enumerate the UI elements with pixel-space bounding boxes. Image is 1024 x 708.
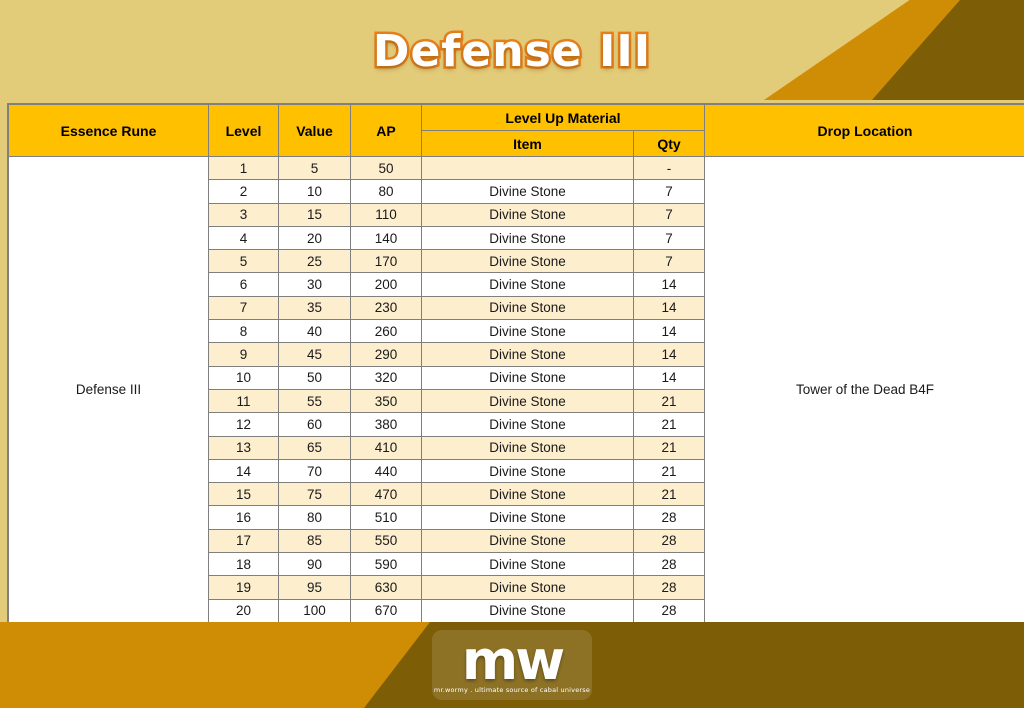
cell-item [422,157,634,180]
cell-level: 7 [209,296,279,319]
cell-ap: 200 [351,273,422,296]
cell-ap: 410 [351,436,422,459]
cell-value: 10 [279,180,351,203]
cell-ap: 110 [351,203,422,226]
cell-ap: 470 [351,483,422,506]
cell-qty: 7 [634,180,705,203]
cell-qty: - [634,157,705,180]
cell-level: 16 [209,506,279,529]
cell-qty: 14 [634,343,705,366]
mw-logo-tagline: mr.wormy . ultimate source of cabal univ… [434,686,590,694]
cell-qty: 21 [634,436,705,459]
footer-banner: mw mr.wormy . ultimate source of cabal u… [0,622,1024,708]
col-header-item: Item [422,131,634,157]
col-header-drop-location: Drop Location [705,105,1024,157]
cell-ap: 140 [351,226,422,249]
cell-level: 5 [209,250,279,273]
cell-item: Divine Stone [422,436,634,459]
cell-ap: 550 [351,529,422,552]
cell-item: Divine Stone [422,320,634,343]
cell-qty: 28 [634,576,705,599]
cell-level: 1 [209,157,279,180]
cell-qty: 14 [634,366,705,389]
top-banner: Defense III [0,0,1024,100]
cell-qty: 7 [634,226,705,249]
cell-ap: 350 [351,389,422,412]
col-header-essence-rune: Essence Rune [9,105,209,157]
cell-level: 6 [209,273,279,296]
cell-item: Divine Stone [422,343,634,366]
col-header-qty: Qty [634,131,705,157]
col-header-level: Level [209,105,279,157]
cell-qty: 28 [634,553,705,576]
cell-item: Divine Stone [422,226,634,249]
cell-ap: 590 [351,553,422,576]
cell-value: 45 [279,343,351,366]
cell-value: 60 [279,413,351,436]
cell-ap: 440 [351,459,422,482]
cell-value: 25 [279,250,351,273]
cell-item: Divine Stone [422,180,634,203]
cell-item: Divine Stone [422,203,634,226]
cell-value: 75 [279,483,351,506]
cell-ap: 630 [351,576,422,599]
cell-value: 85 [279,529,351,552]
cell-item: Divine Stone [422,413,634,436]
rune-table: Essence Rune Level Value AP Level Up Mat… [8,104,1024,623]
col-header-ap: AP [351,105,422,157]
col-header-level-up-material: Level Up Material [422,105,705,131]
cell-qty: 28 [634,506,705,529]
cell-qty: 28 [634,599,705,622]
cell-qty: 21 [634,389,705,412]
cell-ap: 380 [351,413,422,436]
cell-item: Divine Stone [422,273,634,296]
cell-level: 14 [209,459,279,482]
cell-ap: 320 [351,366,422,389]
cell-qty: 14 [634,273,705,296]
cell-level: 8 [209,320,279,343]
cell-level: 10 [209,366,279,389]
cell-item: Divine Stone [422,576,634,599]
cell-ap: 670 [351,599,422,622]
cell-value: 55 [279,389,351,412]
cell-value: 70 [279,459,351,482]
cell-item: Divine Stone [422,296,634,319]
cell-level: 20 [209,599,279,622]
cell-item: Divine Stone [422,389,634,412]
cell-item: Divine Stone [422,250,634,273]
cell-qty: 7 [634,203,705,226]
cell-level: 13 [209,436,279,459]
cell-level: 9 [209,343,279,366]
cell-value: 5 [279,157,351,180]
cell-value: 65 [279,436,351,459]
table-head: Essence Rune Level Value AP Level Up Mat… [9,105,1024,157]
cell-value: 20 [279,226,351,249]
cell-ap: 290 [351,343,422,366]
cell-drop-location: Tower of the Dead B4F [705,157,1024,623]
cell-level: 3 [209,203,279,226]
cell-level: 4 [209,226,279,249]
mw-logo-text: mw [462,636,562,686]
cell-qty: 21 [634,483,705,506]
cell-value: 95 [279,576,351,599]
cell-qty: 21 [634,459,705,482]
cell-item: Divine Stone [422,483,634,506]
cell-qty: 28 [634,529,705,552]
cell-level: 19 [209,576,279,599]
cell-level: 18 [209,553,279,576]
cell-level: 12 [209,413,279,436]
cell-ap: 260 [351,320,422,343]
cell-qty: 14 [634,296,705,319]
cell-ap: 170 [351,250,422,273]
cell-level: 11 [209,389,279,412]
cell-value: 15 [279,203,351,226]
cell-ap: 230 [351,296,422,319]
cell-value: 50 [279,366,351,389]
cell-value: 100 [279,599,351,622]
table-body: Defense III1550-Tower of the Dead B4F210… [9,157,1024,623]
cell-qty: 21 [634,413,705,436]
table-row: Defense III1550-Tower of the Dead B4F [9,157,1024,180]
cell-ap: 80 [351,180,422,203]
cell-item: Divine Stone [422,506,634,529]
cell-qty: 7 [634,250,705,273]
cell-level: 17 [209,529,279,552]
cell-value: 30 [279,273,351,296]
cell-value: 80 [279,506,351,529]
cell-ap: 50 [351,157,422,180]
col-header-value: Value [279,105,351,157]
page-title: Defense III [0,26,1024,77]
cell-value: 40 [279,320,351,343]
cell-item: Divine Stone [422,459,634,482]
mw-logo: mw mr.wormy . ultimate source of cabal u… [432,630,592,700]
rune-table-container: Essence Rune Level Value AP Level Up Mat… [7,103,1024,622]
cell-item: Divine Stone [422,529,634,552]
cell-ap: 510 [351,506,422,529]
cell-value: 35 [279,296,351,319]
cell-level: 15 [209,483,279,506]
cell-item: Divine Stone [422,553,634,576]
table-header-row-1: Essence Rune Level Value AP Level Up Mat… [9,105,1024,131]
cell-item: Divine Stone [422,366,634,389]
cell-level: 2 [209,180,279,203]
cell-qty: 14 [634,320,705,343]
cell-essence-rune: Defense III [9,157,209,623]
cell-item: Divine Stone [422,599,634,622]
cell-value: 90 [279,553,351,576]
